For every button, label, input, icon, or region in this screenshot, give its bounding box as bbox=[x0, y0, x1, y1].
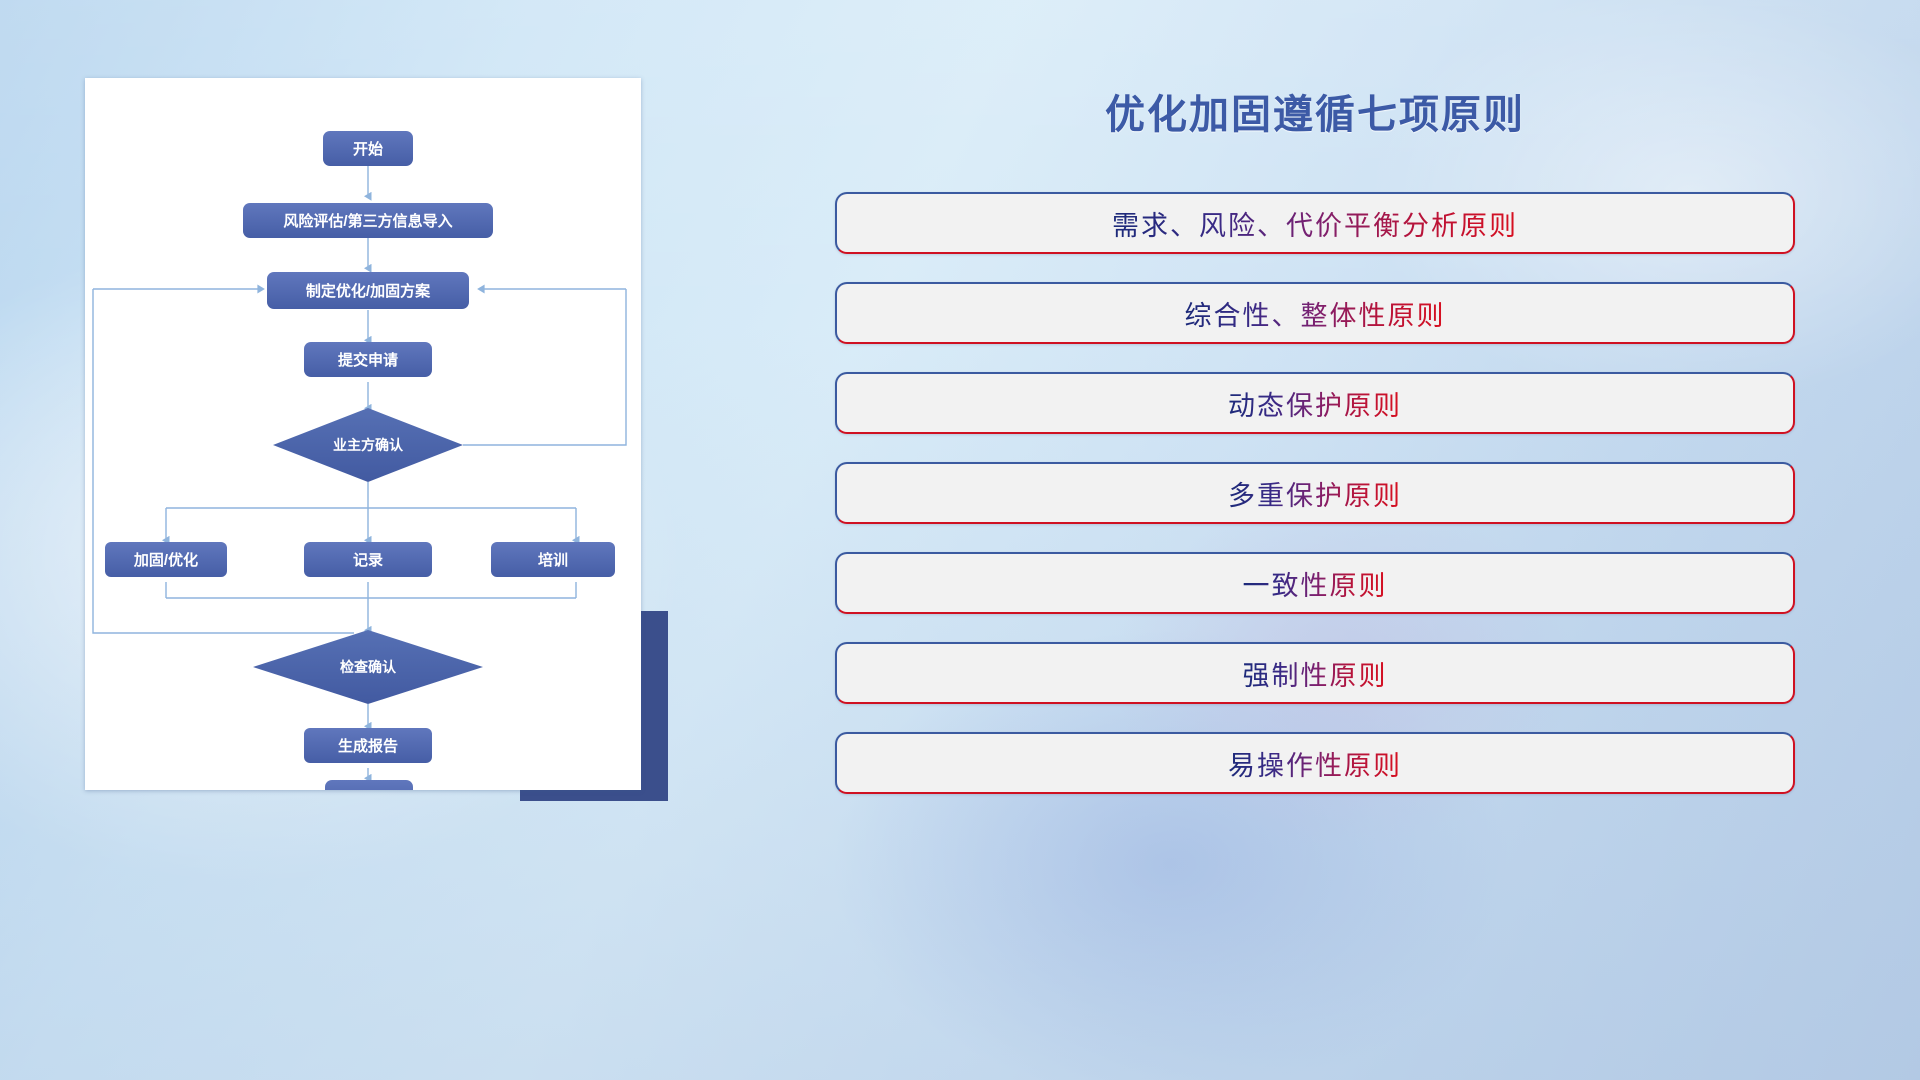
node-risk-assessment: 风险评估/第三方信息导入 bbox=[243, 203, 493, 238]
node-check-confirm-label: 检查确认 bbox=[340, 659, 397, 675]
node-record-label: 记录 bbox=[353, 552, 383, 569]
node-owner-confirm-label: 业主方确认 bbox=[333, 437, 404, 453]
principles-panel: 优化加固遵循七项原则 需求、风险、代价平衡分析原则 综合性、整体性原则 动态保护… bbox=[780, 60, 1850, 860]
principle-item-label: 易操作性原则 bbox=[1228, 744, 1402, 783]
node-reinforce-optimize: 加固/优化 bbox=[105, 542, 227, 577]
node-training-label: 培训 bbox=[538, 551, 568, 569]
principles-list: 需求、风险、代价平衡分析原则 综合性、整体性原则 动态保护原则 多重保护原则 一… bbox=[835, 192, 1795, 822]
node-reinforce-optimize-label: 加固/优化 bbox=[133, 551, 198, 569]
node-end: 结束 bbox=[325, 780, 413, 790]
flowchart-panel: 开始 风险评估/第三方信息导入 制定优化/加固方案 提交申请 业主方确认 加固/… bbox=[85, 78, 641, 790]
principles-title: 优化加固遵循七项原则 bbox=[780, 82, 1850, 140]
principle-item-4[interactable]: 多重保护原则 bbox=[835, 462, 1795, 524]
principle-item-2[interactable]: 综合性、整体性原则 bbox=[835, 282, 1795, 344]
principle-item-5[interactable]: 一致性原则 bbox=[835, 552, 1795, 614]
node-start: 开始 bbox=[323, 131, 413, 166]
principle-item-3[interactable]: 动态保护原则 bbox=[835, 372, 1795, 434]
flowchart-diagram: 开始 风险评估/第三方信息导入 制定优化/加固方案 提交申请 业主方确认 加固/… bbox=[85, 78, 641, 790]
principle-item-label: 多重保护原则 bbox=[1228, 474, 1402, 513]
principle-item-label: 一致性原则 bbox=[1243, 564, 1388, 603]
principle-item-label: 综合性、整体性原则 bbox=[1185, 294, 1446, 333]
node-make-plan: 制定优化/加固方案 bbox=[267, 272, 469, 309]
principle-item-1[interactable]: 需求、风险、代价平衡分析原则 bbox=[835, 192, 1795, 254]
node-generate-report: 生成报告 bbox=[304, 728, 432, 763]
node-make-plan-label: 制定优化/加固方案 bbox=[306, 282, 431, 300]
principle-item-7[interactable]: 易操作性原则 bbox=[835, 732, 1795, 794]
principle-item-6[interactable]: 强制性原则 bbox=[835, 642, 1795, 704]
principle-item-label: 动态保护原则 bbox=[1228, 384, 1402, 423]
node-submit-application-label: 提交申请 bbox=[338, 351, 398, 369]
principle-item-label: 需求、风险、代价平衡分析原则 bbox=[1112, 204, 1518, 243]
principle-item-label: 强制性原则 bbox=[1243, 654, 1388, 693]
node-generate-report-label: 生成报告 bbox=[338, 737, 398, 755]
node-training: 培训 bbox=[491, 542, 615, 577]
node-start-label: 开始 bbox=[353, 140, 383, 158]
node-end-label: 结束 bbox=[354, 789, 385, 790]
node-check-confirm: 检查确认 bbox=[253, 630, 483, 704]
edge-loop-right-path bbox=[463, 289, 626, 445]
node-submit-application: 提交申请 bbox=[304, 342, 432, 377]
node-record: 记录 bbox=[304, 542, 432, 577]
node-owner-confirm: 业主方确认 bbox=[273, 408, 463, 482]
node-risk-assessment-label: 风险评估/第三方信息导入 bbox=[283, 212, 452, 230]
